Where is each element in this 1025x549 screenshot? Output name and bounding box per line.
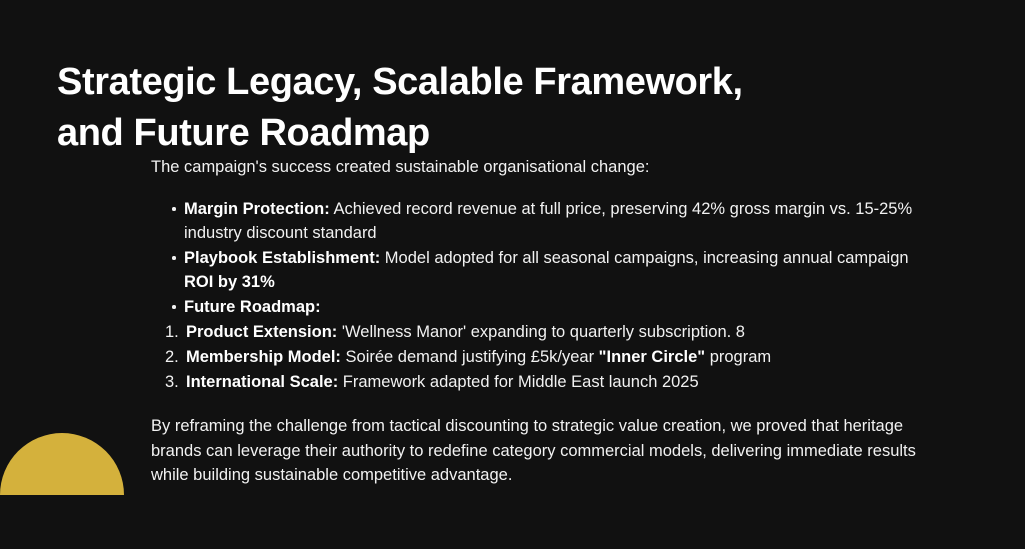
list-item-label: International Scale: (186, 373, 338, 391)
list-item-marker: 1. (165, 320, 185, 344)
slide-canvas: Strategic Legacy, Scalable Framework, an… (0, 0, 1025, 549)
list-item-label: Future Roadmap: (184, 298, 321, 316)
bullet-dot-icon (172, 305, 176, 309)
list-item: Future Roadmap: (151, 295, 941, 319)
list-item-label: Membership Model: (186, 348, 341, 366)
list-item-text: Model adopted for all seasonal campaigns… (380, 249, 908, 267)
semicircle-decoration-icon (0, 433, 124, 495)
list-item-label: Product Extension: (186, 323, 337, 341)
bullet-dot-icon (172, 256, 176, 260)
list-item: Margin Protection: Achieved record reven… (151, 197, 941, 245)
slide-body: The campaign's success created sustainab… (151, 155, 941, 488)
list-item: 2.Membership Model: Soirée demand justif… (151, 345, 941, 369)
list-item-marker: 3. (165, 370, 185, 394)
bullet-dot-icon (172, 207, 176, 211)
list-item-text-tail: program (705, 348, 771, 366)
list-item-text: 'Wellness Manor' expanding to quarterly … (337, 323, 745, 341)
list-item-text: Soirée demand justifying £5k/year (341, 348, 599, 366)
list-item-label: Playbook Establishment: (184, 249, 380, 267)
list-item-label: Margin Protection: (184, 200, 330, 218)
bullet-list: Margin Protection: Achieved record reven… (151, 197, 941, 319)
intro-paragraph: The campaign's success created sustainab… (151, 155, 941, 179)
page-title: Strategic Legacy, Scalable Framework, an… (57, 57, 957, 159)
numbered-list: 1.Product Extension: 'Wellness Manor' ex… (151, 320, 941, 394)
list-item: 1.Product Extension: 'Wellness Manor' ex… (151, 320, 941, 344)
list-item-text: Framework adapted for Middle East launch… (338, 373, 698, 391)
list-item: 3.International Scale: Framework adapted… (151, 370, 941, 394)
list-item-emphasis: "Inner Circle" (599, 348, 705, 366)
list-item: Playbook Establishment: Model adopted fo… (151, 246, 941, 294)
closing-paragraph: By reframing the challenge from tactical… (151, 414, 929, 488)
list-item-marker: 2. (165, 345, 185, 369)
list-item-emphasis: ROI by 31% (184, 273, 275, 291)
